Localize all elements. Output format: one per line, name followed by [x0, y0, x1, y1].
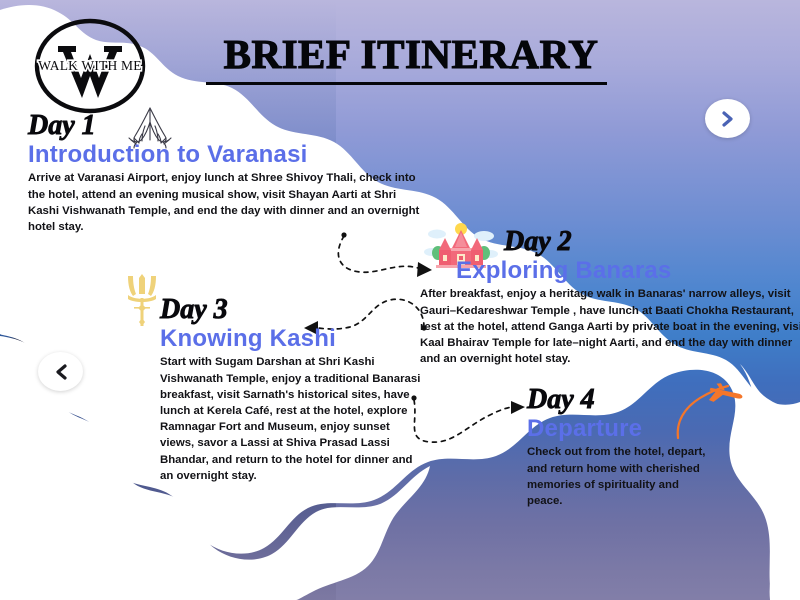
logo: WALK WITH ME [32, 16, 148, 118]
prev-slide-button[interactable] [38, 352, 83, 391]
itinerary-poster: WALK WITH ME BRIEF ITINERARY [0, 0, 800, 600]
day-2-header: Day 2 [420, 228, 800, 256]
day-3-title: Knowing Kashi [160, 326, 430, 352]
chevron-left-icon [53, 363, 69, 381]
day-block-2: Day 2 Exploring Banaras After breakfast,… [420, 228, 800, 367]
day-1-label: Day 1 [28, 112, 96, 140]
logo-wordmark: WALK WITH ME [38, 58, 141, 73]
day-2-title: Exploring Banaras [456, 258, 800, 284]
trident-icon [120, 272, 164, 328]
day-3-label: Day 3 [160, 296, 228, 324]
day-4-header: Day 4 [527, 386, 727, 414]
next-slide-button[interactable] [705, 99, 750, 138]
day-3-header: Day 3 [160, 296, 430, 324]
day-block-4: Day 4 Departure Check out from the hotel… [527, 386, 727, 509]
day-block-1: Day 1 Introduction to Varanasi Arrive at… [28, 112, 428, 235]
day-3-description: Start with Sugam Darshan at Shri Kashi V… [160, 354, 422, 484]
day-4-label: Day 4 [527, 386, 595, 414]
chevron-right-icon [720, 110, 736, 128]
day-1-header: Day 1 [28, 112, 428, 140]
day-1-title: Introduction to Varanasi [28, 142, 428, 168]
day-2-description: After breakfast, enjoy a heritage walk i… [420, 286, 800, 367]
page-title-underline [206, 82, 607, 85]
day-2-label: Day 2 [504, 228, 572, 256]
day-block-3: Day 3 Knowing Kashi Start with Sugam Dar… [160, 296, 430, 484]
day-4-title: Departure [527, 416, 727, 442]
day-4-description: Check out from the hotel, depart, and re… [527, 444, 717, 509]
page-title: BRIEF ITINERARY [196, 34, 626, 75]
day-1-description: Arrive at Varanasi Airport, enjoy lunch … [28, 170, 420, 235]
